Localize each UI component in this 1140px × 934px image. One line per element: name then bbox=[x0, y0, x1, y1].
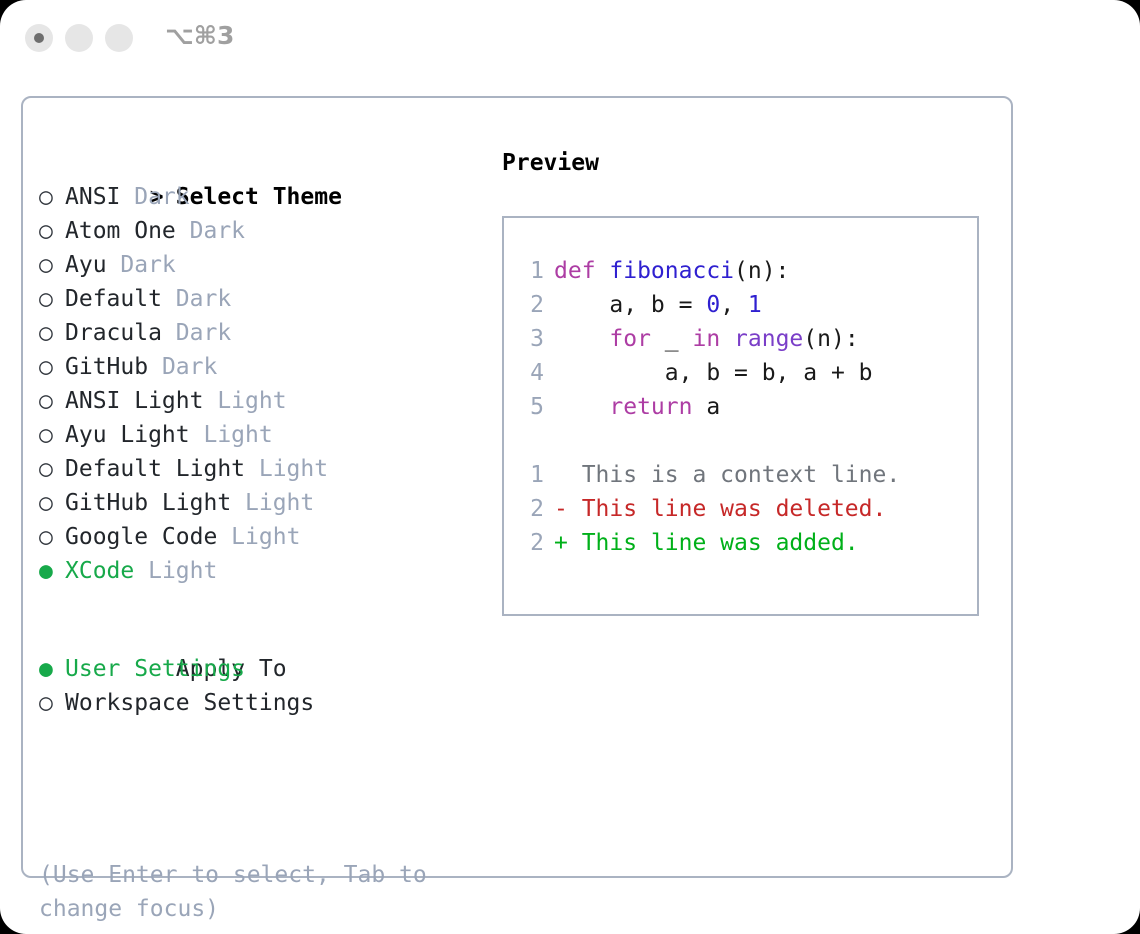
theme-variant-label: Light bbox=[231, 490, 314, 516]
code-line: 2 a, b = 0, 1 bbox=[518, 288, 971, 322]
diff-text: This is a context line. bbox=[582, 462, 901, 488]
radio-selected-icon: ● bbox=[39, 554, 65, 588]
theme-list-item[interactable]: ○ Default Light Light bbox=[39, 452, 479, 486]
theme-list-item[interactable]: ○ Google Code Light bbox=[39, 520, 479, 554]
apply-to-option[interactable]: ○ Workspace Settings bbox=[39, 686, 479, 720]
line-number: 4 bbox=[518, 356, 544, 390]
diff-line: 2- This line was deleted. bbox=[518, 492, 971, 526]
theme-name: GitHub Light bbox=[65, 490, 231, 516]
theme-list-item[interactable]: ○ Dracula Dark bbox=[39, 316, 479, 350]
select-theme-title: Select Theme bbox=[176, 184, 342, 210]
code-token: a bbox=[692, 394, 720, 420]
radio-unselected-icon: ○ bbox=[39, 214, 65, 248]
radio-unselected-icon: ○ bbox=[39, 384, 65, 418]
line-number: 1 bbox=[518, 458, 544, 492]
diff-lines: 1 This is a context line.2- This line wa… bbox=[518, 458, 971, 560]
radio-unselected-icon: ○ bbox=[39, 248, 65, 282]
theme-list-item[interactable]: ○ GitHub Light Light bbox=[39, 486, 479, 520]
code-token: (n): bbox=[734, 258, 789, 284]
code-sample: 1def fibonacci(n):2 a, b = 0, 13 for _ i… bbox=[518, 254, 971, 560]
theme-list-item[interactable]: ○ Ayu Light Light bbox=[39, 418, 479, 452]
code-token: 0 bbox=[706, 292, 720, 318]
line-number: 3 bbox=[518, 322, 544, 356]
window-dot-active-inner bbox=[34, 33, 44, 43]
diff-line: 1 This is a context line. bbox=[518, 458, 971, 492]
theme-variant-label: Light bbox=[245, 456, 328, 482]
radio-unselected-icon: ○ bbox=[39, 520, 65, 554]
theme-name: Google Code bbox=[65, 524, 217, 550]
radio-unselected-icon: ○ bbox=[39, 486, 65, 520]
code-token: a, b = b, a + b bbox=[554, 360, 873, 386]
code-token: a, b = bbox=[554, 292, 706, 318]
window-dot-second-icon[interactable] bbox=[65, 24, 93, 52]
theme-selection-column: > Select Theme ○ ANSI Dark○ Atom One Dar… bbox=[39, 146, 479, 720]
theme-name: Dracula bbox=[65, 320, 162, 346]
theme-variant-label: Dark bbox=[162, 286, 231, 312]
code-lines: 1def fibonacci(n):2 a, b = 0, 13 for _ i… bbox=[518, 254, 971, 424]
radio-unselected-icon: ○ bbox=[39, 686, 65, 720]
code-token: (n): bbox=[803, 326, 858, 352]
theme-variant-label: Light bbox=[190, 422, 273, 448]
radio-unselected-icon: ○ bbox=[39, 418, 65, 452]
theme-variant-label: Dark bbox=[162, 320, 231, 346]
radio-unselected-icon: ○ bbox=[39, 180, 65, 214]
theme-name: GitHub bbox=[65, 354, 148, 380]
theme-variant-label: Dark bbox=[120, 184, 189, 210]
code-token: range bbox=[734, 326, 803, 352]
theme-name: Default Light bbox=[65, 456, 245, 482]
keyboard-shortcut-label: ⌥⌘3 bbox=[165, 21, 234, 50]
diff-sign: - bbox=[554, 496, 582, 522]
code-token bbox=[554, 394, 609, 420]
line-number: 1 bbox=[518, 254, 544, 288]
theme-list-item[interactable]: ○ Atom One Dark bbox=[39, 214, 479, 248]
radio-unselected-icon: ○ bbox=[39, 350, 65, 384]
theme-variant-label: Dark bbox=[107, 252, 176, 278]
code-token: return bbox=[609, 394, 692, 420]
apply-to-option-label: Workspace Settings bbox=[65, 690, 314, 716]
radio-selected-icon: ● bbox=[39, 652, 65, 686]
window-dot-active-icon[interactable] bbox=[25, 24, 53, 52]
code-line: 3 for _ in range(n): bbox=[518, 322, 971, 356]
diff-line: 2+ This line was added. bbox=[518, 526, 971, 560]
radio-unselected-icon: ○ bbox=[39, 452, 65, 486]
line-number: 2 bbox=[518, 526, 544, 560]
theme-list-item[interactable]: ○ ANSI Light Light bbox=[39, 384, 479, 418]
main-panel: > Select Theme ○ ANSI Dark○ Atom One Dar… bbox=[21, 96, 1013, 878]
code-line: 4 a, b = b, a + b bbox=[518, 356, 971, 390]
theme-name: Ayu bbox=[65, 252, 107, 278]
code-line: 5 return a bbox=[518, 390, 971, 424]
diff-sign: + bbox=[554, 530, 582, 556]
theme-list-item[interactable]: ○ Default Dark bbox=[39, 282, 479, 316]
keyboard-hint-text: (Use Enter to select, Tab to change focu… bbox=[39, 858, 459, 926]
code-token: def bbox=[554, 258, 609, 284]
line-number: 2 bbox=[518, 492, 544, 526]
theme-name: Ayu Light bbox=[65, 422, 190, 448]
app-window: ⌥⌘3 > Select Theme ○ ANSI Dark○ Atom One… bbox=[0, 0, 1140, 934]
theme-list-item[interactable]: ○ Ayu Dark bbox=[39, 248, 479, 282]
theme-variant-label: Dark bbox=[176, 218, 245, 244]
apply-to-option-label: User Settings bbox=[65, 656, 245, 682]
line-number: 2 bbox=[518, 288, 544, 322]
title-bar: ⌥⌘3 bbox=[0, 0, 1140, 78]
code-token: in bbox=[692, 326, 720, 352]
diff-sign bbox=[554, 462, 582, 488]
code-token: 1 bbox=[748, 292, 762, 318]
window-dot-third-icon[interactable] bbox=[105, 24, 133, 52]
code-token: _ bbox=[651, 326, 693, 352]
select-theme-header: > Select Theme bbox=[39, 146, 479, 180]
diff-text: This line was added. bbox=[582, 530, 859, 556]
theme-name: XCode bbox=[65, 558, 134, 584]
apply-to-header: Apply To bbox=[39, 618, 479, 652]
preview-box: 1def fibonacci(n):2 a, b = 0, 13 for _ i… bbox=[502, 216, 979, 616]
code-line: 1def fibonacci(n): bbox=[518, 254, 971, 288]
theme-list-item[interactable]: ○ GitHub Dark bbox=[39, 350, 479, 384]
theme-variant-label: Light bbox=[217, 524, 300, 550]
theme-name: ANSI bbox=[65, 184, 120, 210]
line-number: 5 bbox=[518, 390, 544, 424]
theme-variant-label: Dark bbox=[148, 354, 217, 380]
preview-title: Preview bbox=[502, 146, 992, 180]
theme-variant-label: Light bbox=[134, 558, 217, 584]
radio-unselected-icon: ○ bbox=[39, 282, 65, 316]
theme-name: ANSI Light bbox=[65, 388, 203, 414]
code-token: for bbox=[609, 326, 651, 352]
theme-variant-label: Light bbox=[203, 388, 286, 414]
theme-name: Default bbox=[65, 286, 162, 312]
code-token bbox=[554, 326, 609, 352]
code-token: fibonacci bbox=[609, 258, 734, 284]
code-token bbox=[720, 326, 734, 352]
radio-unselected-icon: ○ bbox=[39, 316, 65, 350]
theme-list-item[interactable]: ● XCode Light bbox=[39, 554, 479, 588]
theme-list: ○ ANSI Dark○ Atom One Dark○ Ayu Dark○ De… bbox=[39, 180, 479, 588]
preview-column: Preview 1def fibonacci(n):2 a, b = 0, 13… bbox=[502, 146, 992, 616]
diff-text: This line was deleted. bbox=[582, 496, 887, 522]
code-token: , bbox=[720, 292, 748, 318]
theme-name: Atom One bbox=[65, 218, 176, 244]
